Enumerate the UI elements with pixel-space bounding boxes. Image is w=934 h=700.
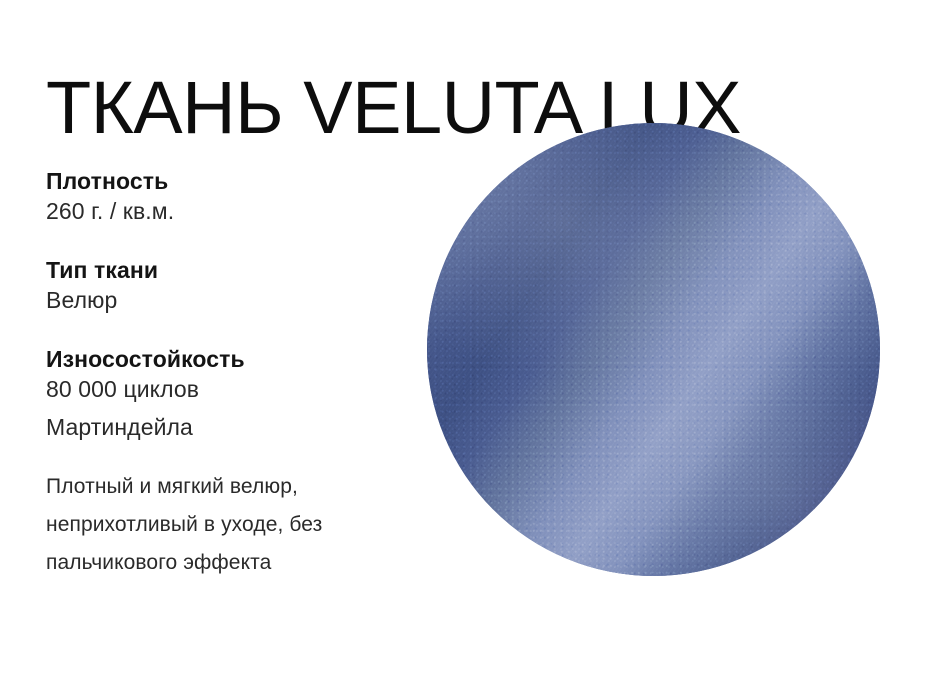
spec-group-durability: Износостойкость 80 000 циклов Мартиндейл… bbox=[46, 344, 416, 443]
spec-group-density: Плотность 260 г. / кв.м. bbox=[46, 166, 416, 227]
spec-label-durability: Износостойкость bbox=[46, 344, 416, 374]
fabric-swatch-image bbox=[427, 123, 880, 576]
spec-value-durability: 80 000 циклов bbox=[46, 374, 416, 405]
fabric-spec-card: ТКАНЬ VELUTA LUX Плотность 260 г. / кв.м… bbox=[0, 0, 934, 700]
spec-label-density: Плотность bbox=[46, 166, 416, 196]
spec-group-fabric-type: Тип ткани Велюр bbox=[46, 255, 416, 316]
swatch-sheen-overlay bbox=[427, 123, 880, 576]
spec-list: Плотность 260 г. / кв.м. Тип ткани Велюр… bbox=[46, 166, 416, 443]
spec-value-fabric-type: Велюр bbox=[46, 285, 416, 316]
spec-label-fabric-type: Тип ткани bbox=[46, 255, 416, 285]
fabric-description: Плотный и мягкий велюр, неприхотливый в … bbox=[46, 468, 426, 582]
spec-value-density: 260 г. / кв.м. bbox=[46, 196, 416, 227]
spec-value-durability-unit: Мартиндейла bbox=[46, 412, 416, 443]
